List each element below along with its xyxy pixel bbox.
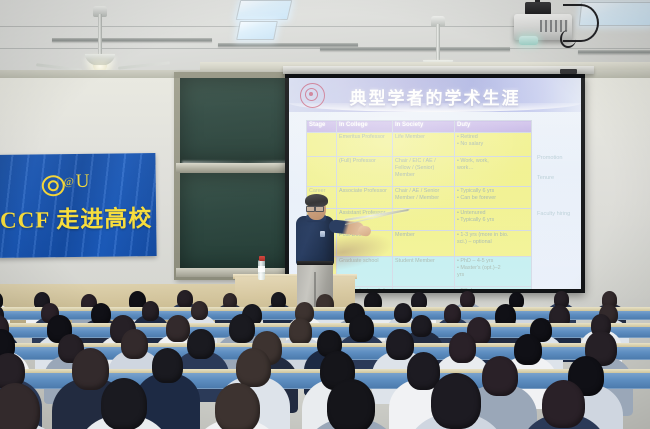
- cell-stage: [307, 133, 337, 157]
- table-row: (Full) ProfessorChair / EIC / AE / Fello…: [307, 157, 532, 187]
- duty-line: • Retired: [457, 134, 529, 141]
- column-header-in-college: In College: [337, 121, 393, 133]
- audience-head: [236, 348, 271, 387]
- duty-line: • Typically 6 yrs: [457, 188, 529, 195]
- cell-in-society: [393, 287, 455, 290]
- cell-duty: • PhD – 4-5 yrs• Master's (opt.)–2yrs: [455, 257, 532, 287]
- ceiling-light-panel: [236, 21, 278, 40]
- presenter-glasses-icon: [306, 206, 324, 210]
- slide-annotation: Promotion: [537, 155, 563, 162]
- audience-head: [121, 329, 148, 359]
- cell-duty: • Retired• No salary: [455, 133, 532, 157]
- banner-headline: CCF 走进高校: [0, 199, 156, 235]
- table-header-row: Stage In College In Society Duty: [307, 121, 532, 133]
- projector-cable: [560, 30, 576, 48]
- cell-in-society: Chair / EIC / AE / Fellow / (Senior) Mem…: [393, 157, 455, 187]
- presenter-belt: [297, 261, 333, 265]
- cell-in-college: Associate Professor: [337, 187, 393, 209]
- green-chalkboard: [180, 78, 295, 163]
- column-header-stage: Stage: [307, 121, 337, 133]
- duty-line: • Untenured: [457, 210, 529, 217]
- audience-head: [142, 301, 160, 321]
- audience-head: [72, 348, 110, 390]
- column-header-in-society: In Society: [393, 121, 455, 133]
- audience-head: [431, 373, 481, 429]
- audience-head: [187, 329, 214, 359]
- projector-lens-icon: [519, 36, 538, 45]
- audience-head: [444, 304, 461, 323]
- screen-housing: [283, 66, 594, 74]
- ccf-emblem-icon: [42, 175, 65, 196]
- audience-head: [394, 303, 412, 323]
- duty-line: • 1-3 yrs (more in bio.: [457, 232, 529, 239]
- cell-in-college: Emeritus Professor: [337, 133, 393, 157]
- audience-head: [91, 303, 111, 326]
- cell-stage: [307, 157, 337, 187]
- cell-in-society: Chair / AE / Senior Member / Member: [393, 187, 455, 209]
- table-row: Emeritus ProfessorLife Member• Retired• …: [307, 133, 532, 157]
- slide-annotation: Tenure: [537, 175, 554, 182]
- slide-annotation: Faculty hiring: [537, 211, 570, 218]
- duty-line: • BS degree: [457, 288, 529, 289]
- banner-u-text: U: [76, 171, 90, 193]
- audience-head: [215, 383, 260, 429]
- duty-line: yrs: [457, 272, 529, 279]
- audience-head: [166, 315, 190, 342]
- audience-head: [327, 379, 375, 429]
- ceiling-light-panel: [236, 0, 293, 20]
- audience-head: [386, 329, 414, 360]
- duty-line: work…: [457, 165, 529, 172]
- audience-head: [152, 348, 184, 383]
- cell-duty: • 1-3 yrs (more in bio.sci.) – optional: [455, 231, 532, 257]
- slide-title: 典型学者的学术生涯: [289, 84, 581, 109]
- cell-in-society: Member: [393, 231, 455, 257]
- duty-line: • Master's (opt.)–2: [457, 265, 529, 272]
- bench-desktop: [0, 323, 650, 327]
- audience-head: [289, 318, 313, 345]
- presenter-polo-shirt: [296, 216, 334, 265]
- bottle-label: [258, 266, 265, 272]
- fan-downrod: [436, 24, 440, 62]
- ccf-banner: @ U CCF 走进高校: [0, 153, 157, 258]
- duty-line: • No salary: [457, 141, 529, 148]
- audience-head: [449, 332, 477, 363]
- column-header-duty: Duty: [455, 121, 532, 133]
- duty-line: • Can be forever: [457, 195, 529, 202]
- green-chalkboard: [180, 173, 295, 270]
- lecture-hall-photo: @ U CCF 走进高校 典型学者的学术生涯 Stage In College …: [0, 0, 650, 429]
- audience-head: [349, 314, 374, 342]
- bottle-cap: [259, 256, 265, 261]
- audience-head: [482, 356, 518, 396]
- cell-duty: • Untenured• Typically 6 yrs: [455, 209, 532, 231]
- table-row: CareerAssociate ProfessorChair / AE / Se…: [307, 187, 532, 209]
- at-sign-text: @: [64, 176, 74, 188]
- duty-line: sci.) – optional: [457, 239, 529, 246]
- audience-head: [460, 291, 475, 308]
- audience-head: [514, 334, 542, 365]
- audience-head: [229, 314, 255, 343]
- duty-line: • Typically 6 yrs: [457, 217, 529, 224]
- audience-head: [191, 301, 208, 320]
- duty-line: • Work, work,: [457, 158, 529, 165]
- audience-head: [542, 380, 585, 428]
- cell-duty: • BS degree• 4 years: [455, 287, 532, 290]
- fan-downrod: [98, 14, 102, 56]
- cell-in-society: Student Member: [393, 257, 455, 287]
- cell-duty: • Work, work,work…: [455, 157, 532, 187]
- duty-line: • PhD – 4-5 yrs: [457, 258, 529, 265]
- ceiling-fan: [70, 4, 130, 66]
- cell-in-society: Life Member: [393, 133, 455, 157]
- cell-in-college: (Full) Professor: [337, 157, 393, 187]
- audience-head: [101, 378, 148, 429]
- presenter-shirt-logo: [320, 231, 325, 237]
- cell-duty: • Typically 6 yrs• Can be forever: [455, 187, 532, 209]
- chalk-rail: [176, 163, 299, 173]
- ceiling-rail: [578, 50, 650, 54]
- audience-head: [411, 315, 431, 338]
